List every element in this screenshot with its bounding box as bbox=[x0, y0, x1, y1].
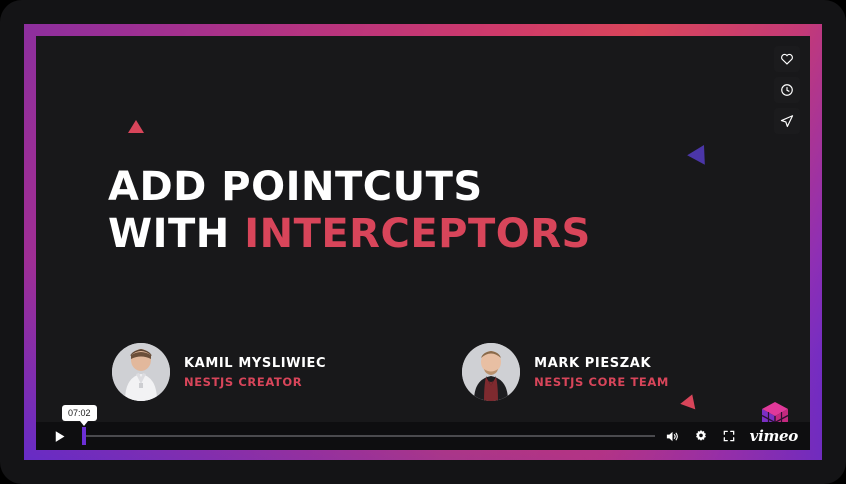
share-button[interactable] bbox=[774, 108, 800, 134]
presenter-name: KAMIL MYSLIWIEC bbox=[184, 356, 326, 371]
triangle-purple-right bbox=[687, 140, 713, 164]
triangle-red-right bbox=[680, 392, 699, 410]
triangle-red-top-left bbox=[128, 120, 144, 133]
title-line-1: ADD POINTCUTS bbox=[108, 164, 591, 211]
fullscreen-icon bbox=[722, 429, 736, 443]
action-button-group bbox=[774, 46, 800, 134]
presenter-role: NESTJS CORE TEAM bbox=[534, 375, 669, 389]
avatar-kamil-mysliwiec bbox=[112, 343, 170, 401]
volume-button[interactable] bbox=[665, 429, 680, 444]
video-player-gradient-frame: ADD POINTCUTS WITH INTERCEPTORS bbox=[24, 24, 822, 460]
scrubber-handle[interactable]: 07:02 bbox=[82, 427, 86, 445]
presenter-role: NESTJS CREATOR bbox=[184, 375, 326, 389]
title-line-2: WITH INTERCEPTORS bbox=[108, 211, 591, 258]
presenter-item: KAMIL MYSLIWIEC NESTJS CREATOR bbox=[112, 343, 326, 401]
progress-track[interactable] bbox=[82, 435, 655, 437]
play-button[interactable] bbox=[36, 422, 82, 450]
paper-plane-icon bbox=[780, 114, 794, 128]
title-line-2-accent: INTERCEPTORS bbox=[244, 211, 591, 257]
video-stage[interactable]: ADD POINTCUTS WITH INTERCEPTORS bbox=[36, 36, 810, 448]
fullscreen-button[interactable] bbox=[722, 429, 736, 443]
presenter-item: MARK PIESZAK NESTJS CORE TEAM bbox=[462, 343, 669, 401]
play-icon bbox=[52, 429, 67, 444]
right-controls: vimeo bbox=[655, 422, 810, 450]
heart-icon bbox=[780, 52, 794, 66]
presenter-text: KAMIL MYSLIWIEC NESTJS CREATOR bbox=[184, 356, 326, 389]
settings-button[interactable] bbox=[694, 429, 708, 443]
vimeo-brand-logo[interactable]: vimeo bbox=[750, 427, 798, 445]
slide-title: ADD POINTCUTS WITH INTERCEPTORS bbox=[108, 164, 591, 258]
time-tooltip: 07:02 bbox=[62, 405, 97, 421]
clock-icon bbox=[780, 83, 794, 97]
watch-later-button[interactable] bbox=[774, 77, 800, 103]
gear-icon bbox=[694, 429, 708, 443]
presenter-text: MARK PIESZAK NESTJS CORE TEAM bbox=[534, 356, 669, 389]
presenter-list: KAMIL MYSLIWIEC NESTJS CREATOR bbox=[112, 343, 669, 401]
title-line-2-plain: WITH bbox=[108, 211, 244, 257]
page-root: ADD POINTCUTS WITH INTERCEPTORS bbox=[0, 0, 846, 484]
presenter-name: MARK PIESZAK bbox=[534, 356, 669, 371]
avatar-mark-pieszak bbox=[462, 343, 520, 401]
progress-bar[interactable]: 07:02 bbox=[82, 422, 655, 450]
volume-icon bbox=[665, 429, 680, 444]
like-button[interactable] bbox=[774, 46, 800, 72]
player-control-bar: 07:02 bbox=[36, 422, 810, 450]
